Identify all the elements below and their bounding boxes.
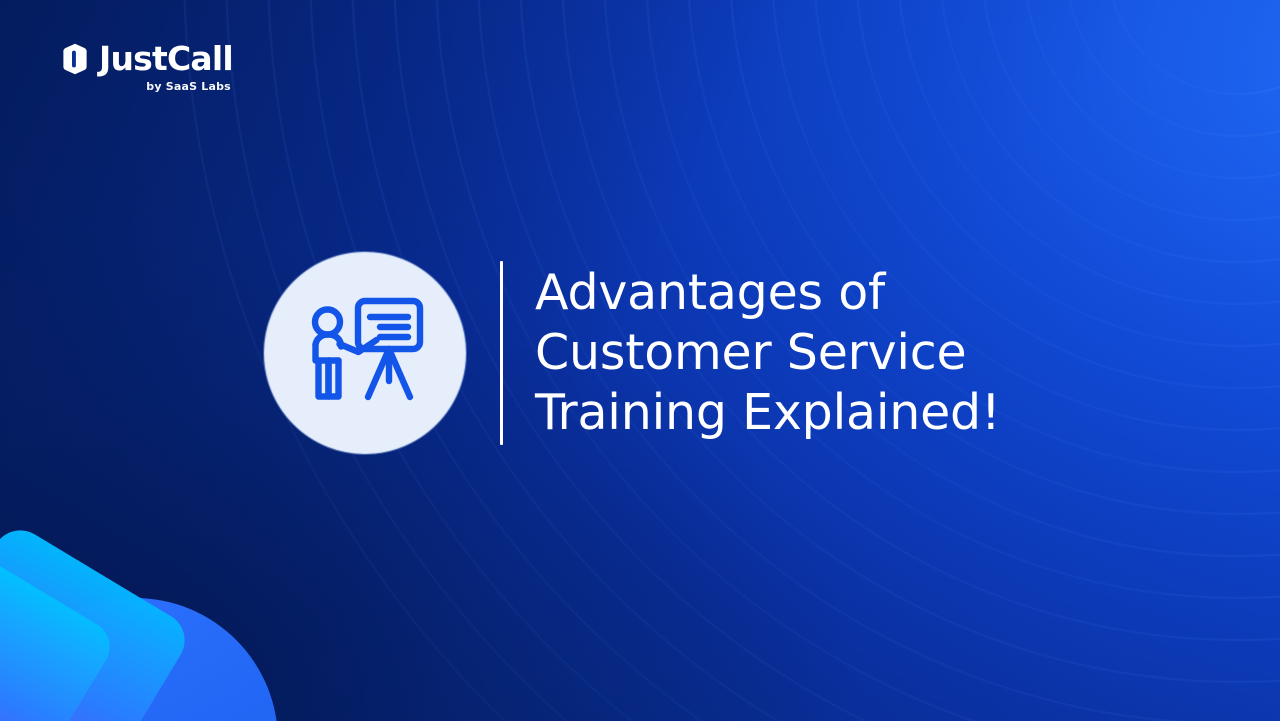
- hero-icon-badge: [264, 252, 466, 454]
- training-presentation-icon: [306, 297, 424, 409]
- logo-row: JustCall: [60, 42, 233, 75]
- blog-banner: JustCall by SaaS Labs: [0, 0, 1280, 721]
- logo-tagline: by SaaS Labs: [146, 80, 231, 93]
- hero-divider: [500, 261, 503, 445]
- hero-block: Advantages of Customer Service Training …: [264, 252, 1000, 454]
- logo-wordmark: JustCall: [99, 42, 233, 75]
- hero-title: Advantages of Customer Service Training …: [535, 263, 1000, 443]
- justcall-logo-mark-icon: [60, 43, 90, 75]
- justcall-logo[interactable]: JustCall by SaaS Labs: [60, 42, 233, 93]
